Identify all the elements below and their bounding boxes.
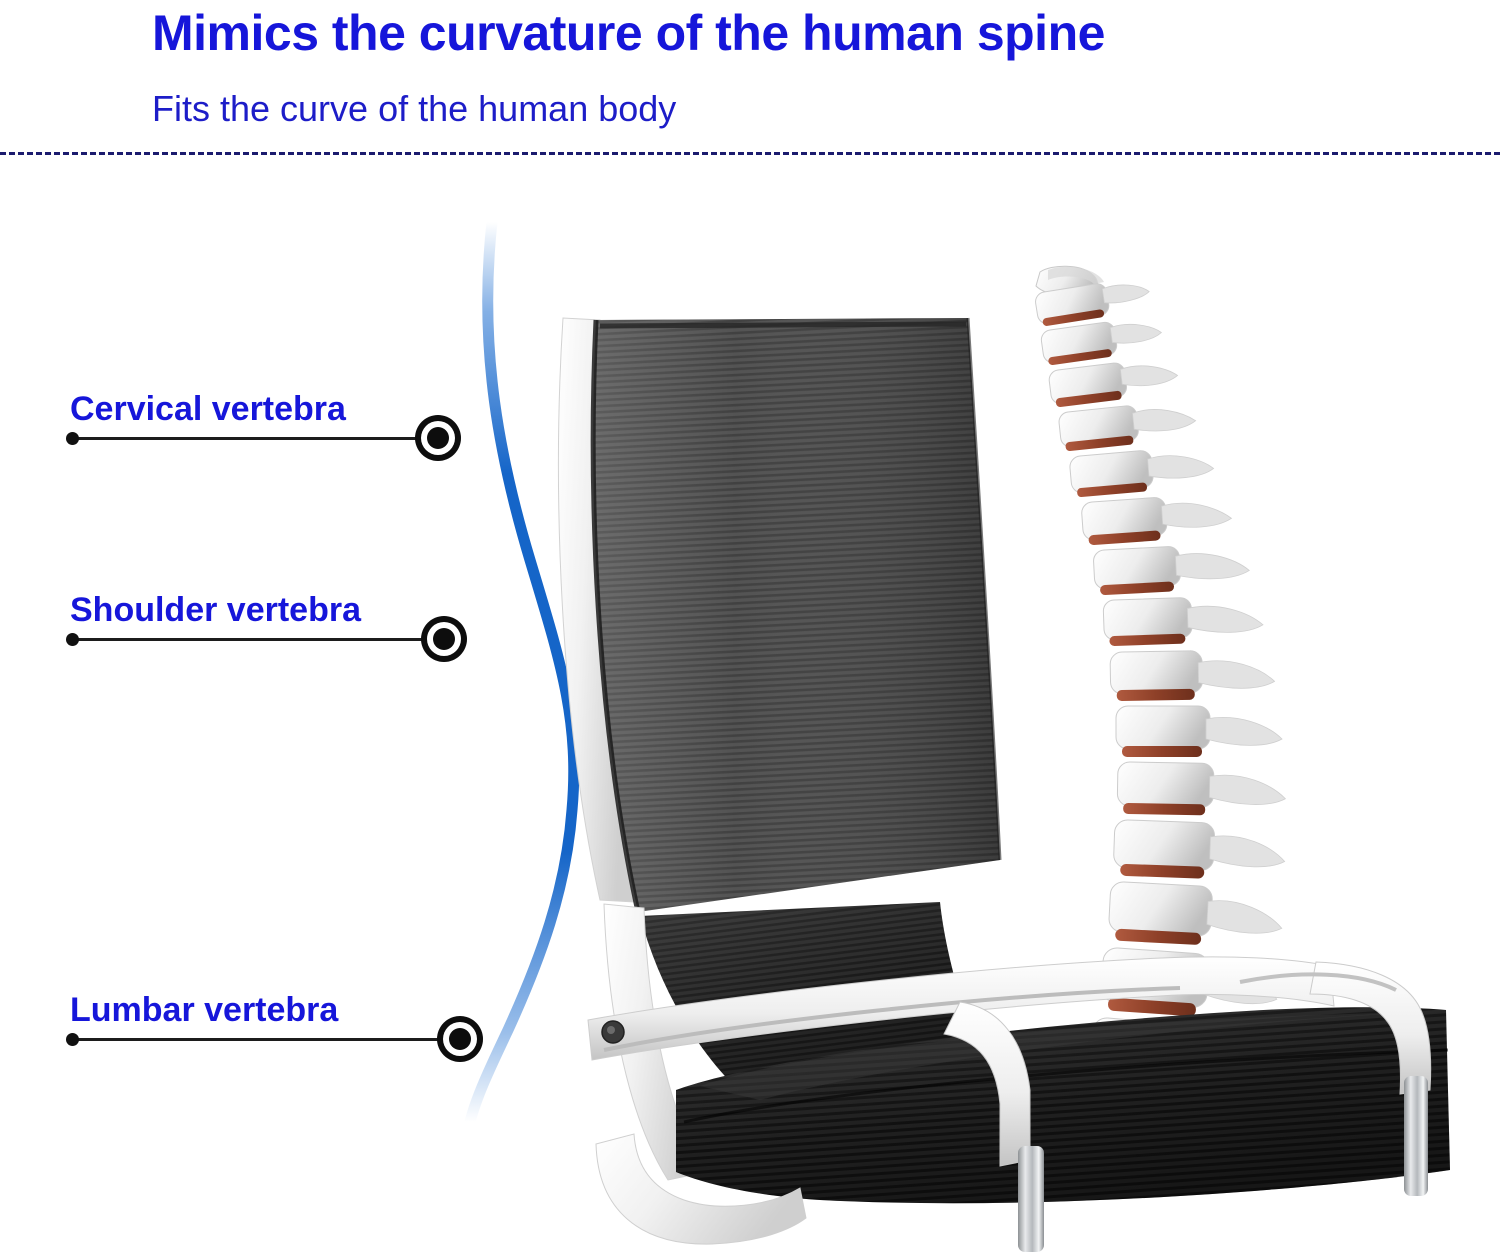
callout-target-marker-icon [415, 415, 461, 461]
page-title: Mimics the curvature of the human spine [152, 4, 1105, 62]
header-divider [0, 152, 1500, 155]
backrest-mesh [593, 318, 1000, 912]
chrome-leg-right [1404, 1076, 1428, 1196]
product-infographic: Mimics the curvature of the human spine … [0, 0, 1500, 1252]
spine-curve-line [470, 222, 574, 1122]
chrome-leg-left [1018, 1146, 1044, 1252]
callout-leader-line [70, 437, 437, 440]
office-chair [558, 318, 1450, 1252]
callout-label-cervical-vertebra: Cervical vertebra [70, 390, 346, 429]
callout-start-dot-icon [66, 432, 79, 445]
callout-start-dot-icon [66, 633, 79, 646]
page-subtitle: Fits the curve of the human body [152, 88, 676, 130]
callout-start-dot-icon [66, 1033, 79, 1046]
callout-label-shoulder-vertebra: Shoulder vertebra [70, 591, 361, 630]
callout-leader-line [70, 638, 443, 641]
callout-leader-line [70, 1038, 459, 1041]
callout-label-lumbar-vertebra: Lumbar vertebra [70, 991, 338, 1030]
callout-target-marker-icon [437, 1016, 483, 1062]
callout-target-marker-icon [421, 616, 467, 662]
chair-and-spine-illustration [0, 160, 1500, 1252]
illustration-stage [0, 160, 1500, 1252]
